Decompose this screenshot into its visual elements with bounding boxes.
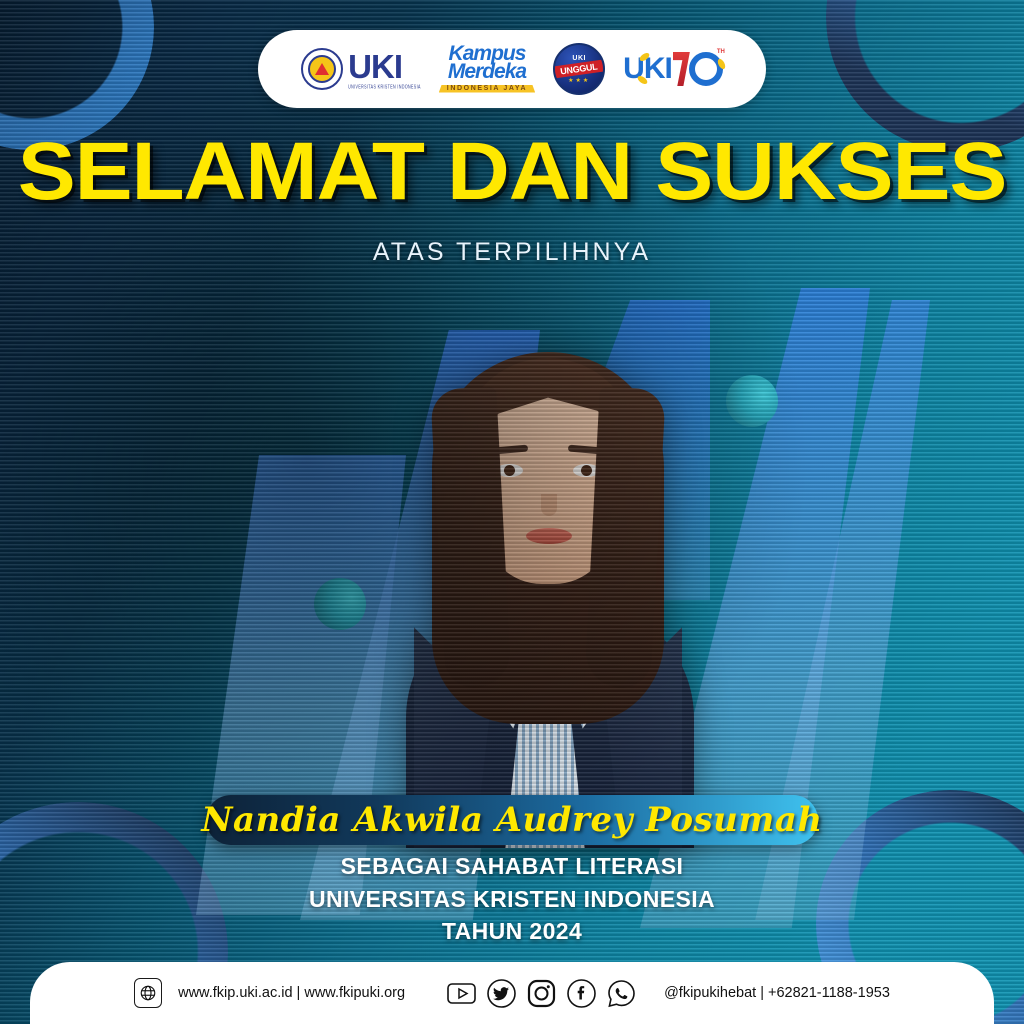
handle-and-phone-text[interactable]: @fkipukihebat | +62821-1188-1953 (664, 985, 890, 1001)
youtube-icon[interactable] (447, 979, 476, 1008)
role-line-2: UNIVERSITAS KRISTEN INDONESIA (0, 883, 1024, 916)
uki-70-zero-icon (689, 52, 723, 86)
uki-unggul-band: UNGGUL (553, 59, 605, 79)
uki-unggul-top: UKI (572, 55, 586, 62)
recipient-name: Nandia Akwila Audrey Posumah (201, 800, 822, 840)
uki-70-seven-icon (673, 52, 690, 86)
decorative-sphere-left (314, 578, 366, 630)
uki-subtitle: UNIVERSITAS KRISTEN INDONESIA (348, 83, 421, 89)
instagram-icon[interactable] (527, 979, 556, 1008)
footer-bar: www.fkip.uki.ac.id | www.fkipuki.org (30, 962, 994, 1024)
uki-crest-icon (301, 48, 343, 90)
role-line-3: TAHUN 2024 (0, 915, 1024, 948)
portrait-lips (526, 528, 572, 544)
recipient-role: SEBAGAI SAHABAT LITERASI UNIVERSITAS KRI… (0, 850, 1024, 948)
kampus-merdeka-logo: Kampus Merdeka INDONESIA JAYA (439, 45, 535, 92)
logo-bar: UKI UNIVERSITAS KRISTEN INDONESIA Kampus… (258, 30, 766, 108)
portrait-nose (541, 494, 557, 516)
website-text[interactable]: www.fkip.uki.ac.id | www.fkipuki.org (178, 985, 405, 1001)
role-line-1: SEBAGAI SAHABAT LITERASI (0, 850, 1024, 883)
facebook-icon[interactable] (567, 979, 596, 1008)
page-title: SELAMAT DAN SUKSES (0, 131, 1024, 213)
page-subtitle: ATAS TERPILIHNYA (0, 238, 1024, 267)
kampus-merdeka-tagline: INDONESIA JAYA (439, 85, 535, 93)
globe-icon (134, 978, 162, 1008)
uki-unggul-stars: ★★★ (568, 77, 590, 84)
recipient-portrait (398, 318, 698, 848)
congratulations-poster: UKI UNIVERSITAS KRISTEN INDONESIA Kampus… (0, 0, 1024, 1024)
whatsapp-icon[interactable] (607, 979, 636, 1008)
social-icon-group (447, 979, 636, 1008)
recipient-name-banner: Nandia Akwila Audrey Posumah (206, 795, 818, 845)
uki-70-tm-mark: TH (717, 49, 725, 55)
decorative-sphere-right (726, 375, 778, 427)
uki-wordmark: UKI (348, 50, 421, 83)
uki-70-logo: UKI TH (623, 52, 723, 86)
kampus-merdeka-line2: Merdeka (448, 63, 526, 81)
uki-logo: UKI UNIVERSITAS KRISTEN INDONESIA (301, 48, 421, 90)
twitter-icon[interactable] (487, 979, 516, 1008)
uki-unggul-logo: UKI UNGGUL ★★★ (553, 43, 605, 95)
